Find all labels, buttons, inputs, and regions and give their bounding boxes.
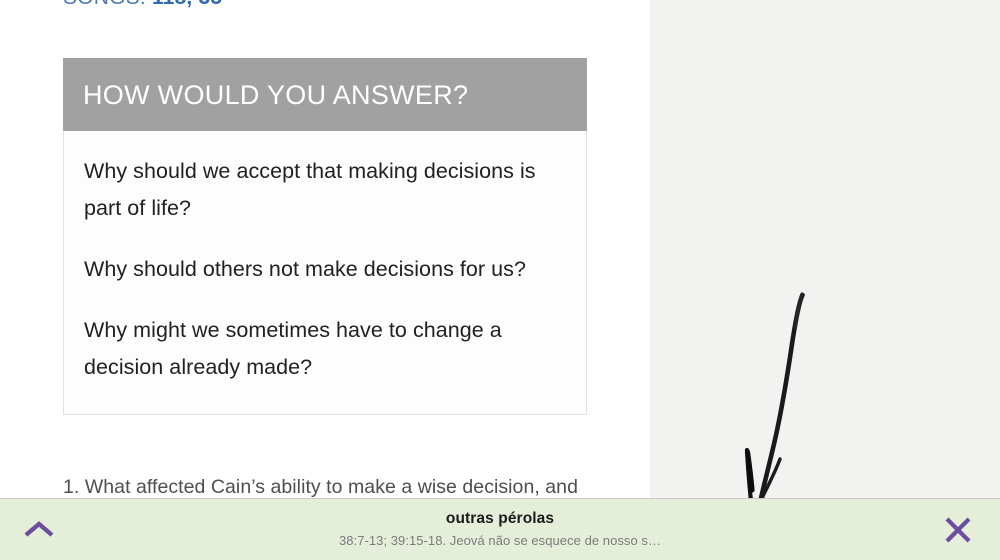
songs-label: SONGS:	[63, 0, 146, 9]
article-pane[interactable]: SONGS: 118, 35 HOW WOULD YOU ANSWER? Why…	[0, 0, 650, 498]
expand-player-button[interactable]	[8, 499, 70, 560]
answer-box-body: Why should we accept that making decisio…	[64, 131, 586, 414]
answer-box-header: HOW WOULD YOU ANSWER?	[63, 58, 587, 131]
media-subtitle: 38:7-13; 39:15-18. Jeová não se esquece …	[339, 533, 661, 550]
illustration-pane	[650, 0, 1000, 498]
app-root: SONGS: 118, 35 HOW WOULD YOU ANSWER? Why…	[0, 0, 1000, 560]
article-paragraph-1: 1. What affected Cain’s ability to make …	[63, 472, 608, 498]
media-player-bar: outras pérolas 38:7-13; 39:15-18. Jeová …	[0, 498, 1000, 560]
how-would-you-answer-box: HOW WOULD YOU ANSWER? Why should we acce…	[63, 58, 587, 415]
close-icon	[943, 515, 973, 545]
songs-line: SONGS: 118, 35	[63, 0, 222, 10]
media-bar-inner: outras pérolas 38:7-13; 39:15-18. Jeová …	[0, 499, 1000, 560]
chevron-up-icon	[22, 518, 56, 542]
media-title: outras pérolas	[446, 509, 554, 529]
media-text-block[interactable]: outras pérolas 38:7-13; 39:15-18. Jeová …	[90, 499, 910, 560]
plant-stem-ink-sketch	[650, 0, 1000, 560]
answer-question: Why should others not make decisions for…	[84, 251, 558, 288]
answer-question: Why should we accept that making decisio…	[84, 153, 558, 227]
songs-value: 118, 35	[152, 0, 222, 9]
answer-question: Why might we sometimes have to change a …	[84, 312, 558, 386]
close-player-button[interactable]	[930, 499, 986, 560]
